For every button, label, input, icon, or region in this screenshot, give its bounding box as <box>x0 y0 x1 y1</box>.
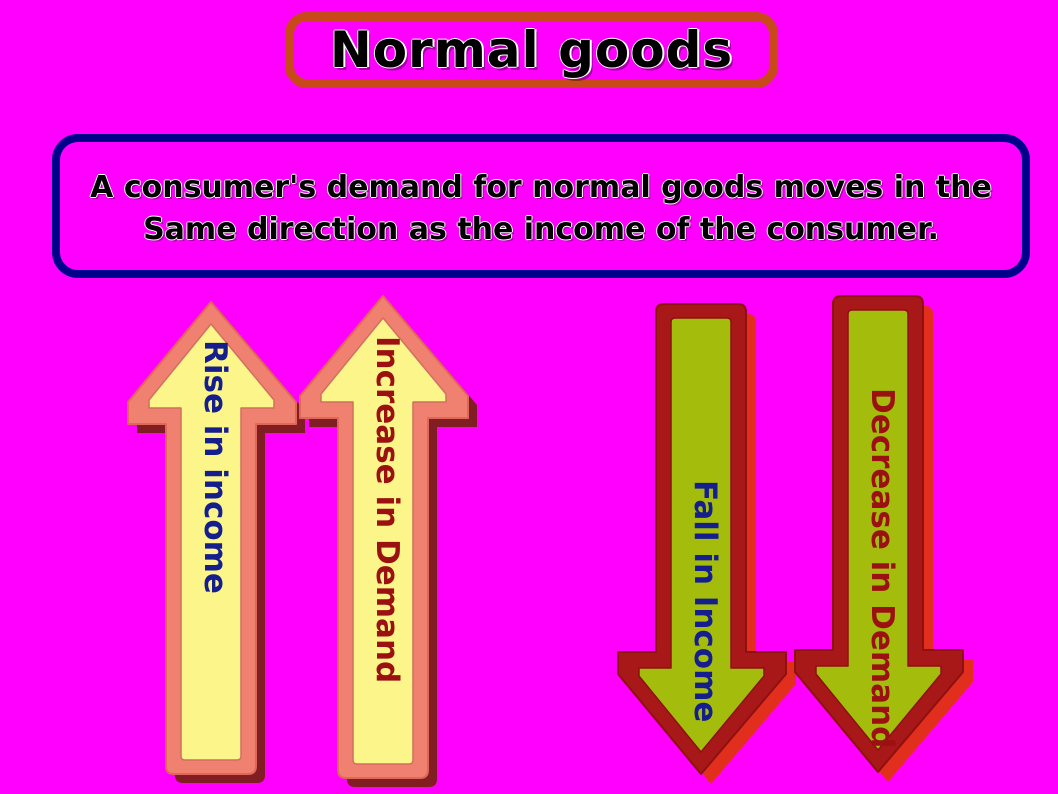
definition-box: A consumer's demand for normal goods mov… <box>52 134 1030 278</box>
title-box: Normal goods <box>285 12 778 88</box>
arrow-fall-in-income: Fall in Income <box>618 300 803 790</box>
page-title: Normal goods <box>330 21 733 79</box>
arrow-rise-in-income: Rise in income <box>128 298 313 780</box>
slide-canvas: Normal goods A consumer's demand for nor… <box>0 0 1058 794</box>
definition-line-1: A consumer's demand for normal goods mov… <box>90 167 992 209</box>
arrow-increase-in-demand: Increase in Demand <box>295 292 480 784</box>
definition-line-2: Same direction as the income of the cons… <box>143 209 939 251</box>
arrow-decrease-in-demand: Decrease in Demand <box>790 292 980 790</box>
